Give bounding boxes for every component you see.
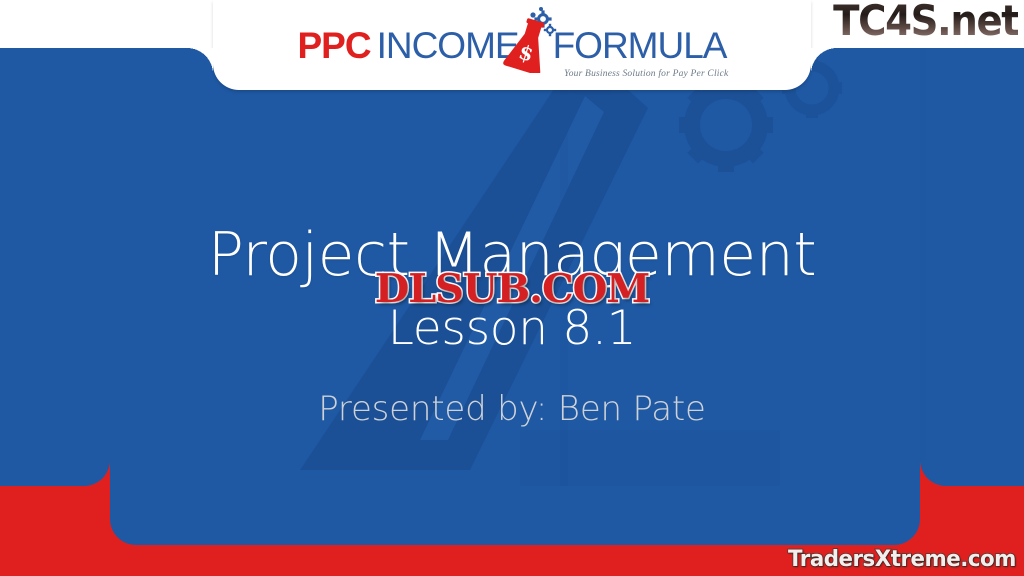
brand-logo[interactable]: PPC INCOME FORMULA (213, 0, 811, 90)
slide-presenter: Presented by: Ben Pate (318, 392, 706, 426)
header-logo-panel: PPC INCOME FORMULA (213, 0, 811, 90)
watermark-tc4s: TC4S.net (833, 0, 1018, 45)
slide-subtitle: Lesson 8.1 (388, 305, 636, 352)
logo-text-formula: FORMULA (553, 27, 727, 64)
header-fillet-left (187, 48, 213, 74)
logo-text-ppc: PPC (298, 27, 371, 64)
footer-blue-panel (110, 486, 920, 545)
footer-fillet-right (920, 460, 946, 486)
watermark-dlsub: DLSUB.COM (375, 266, 650, 312)
flask-dollar-icon: $ (497, 5, 559, 73)
logo-tagline: Your Business Solution for Pay Per Click (564, 69, 728, 79)
watermark-tradersxtreme: TradersXtreme.com (788, 547, 1016, 572)
header-fillet-right (811, 48, 837, 74)
presentation-slide: PPC INCOME FORMULA (0, 0, 1024, 576)
footer-fillet-left (84, 460, 110, 486)
